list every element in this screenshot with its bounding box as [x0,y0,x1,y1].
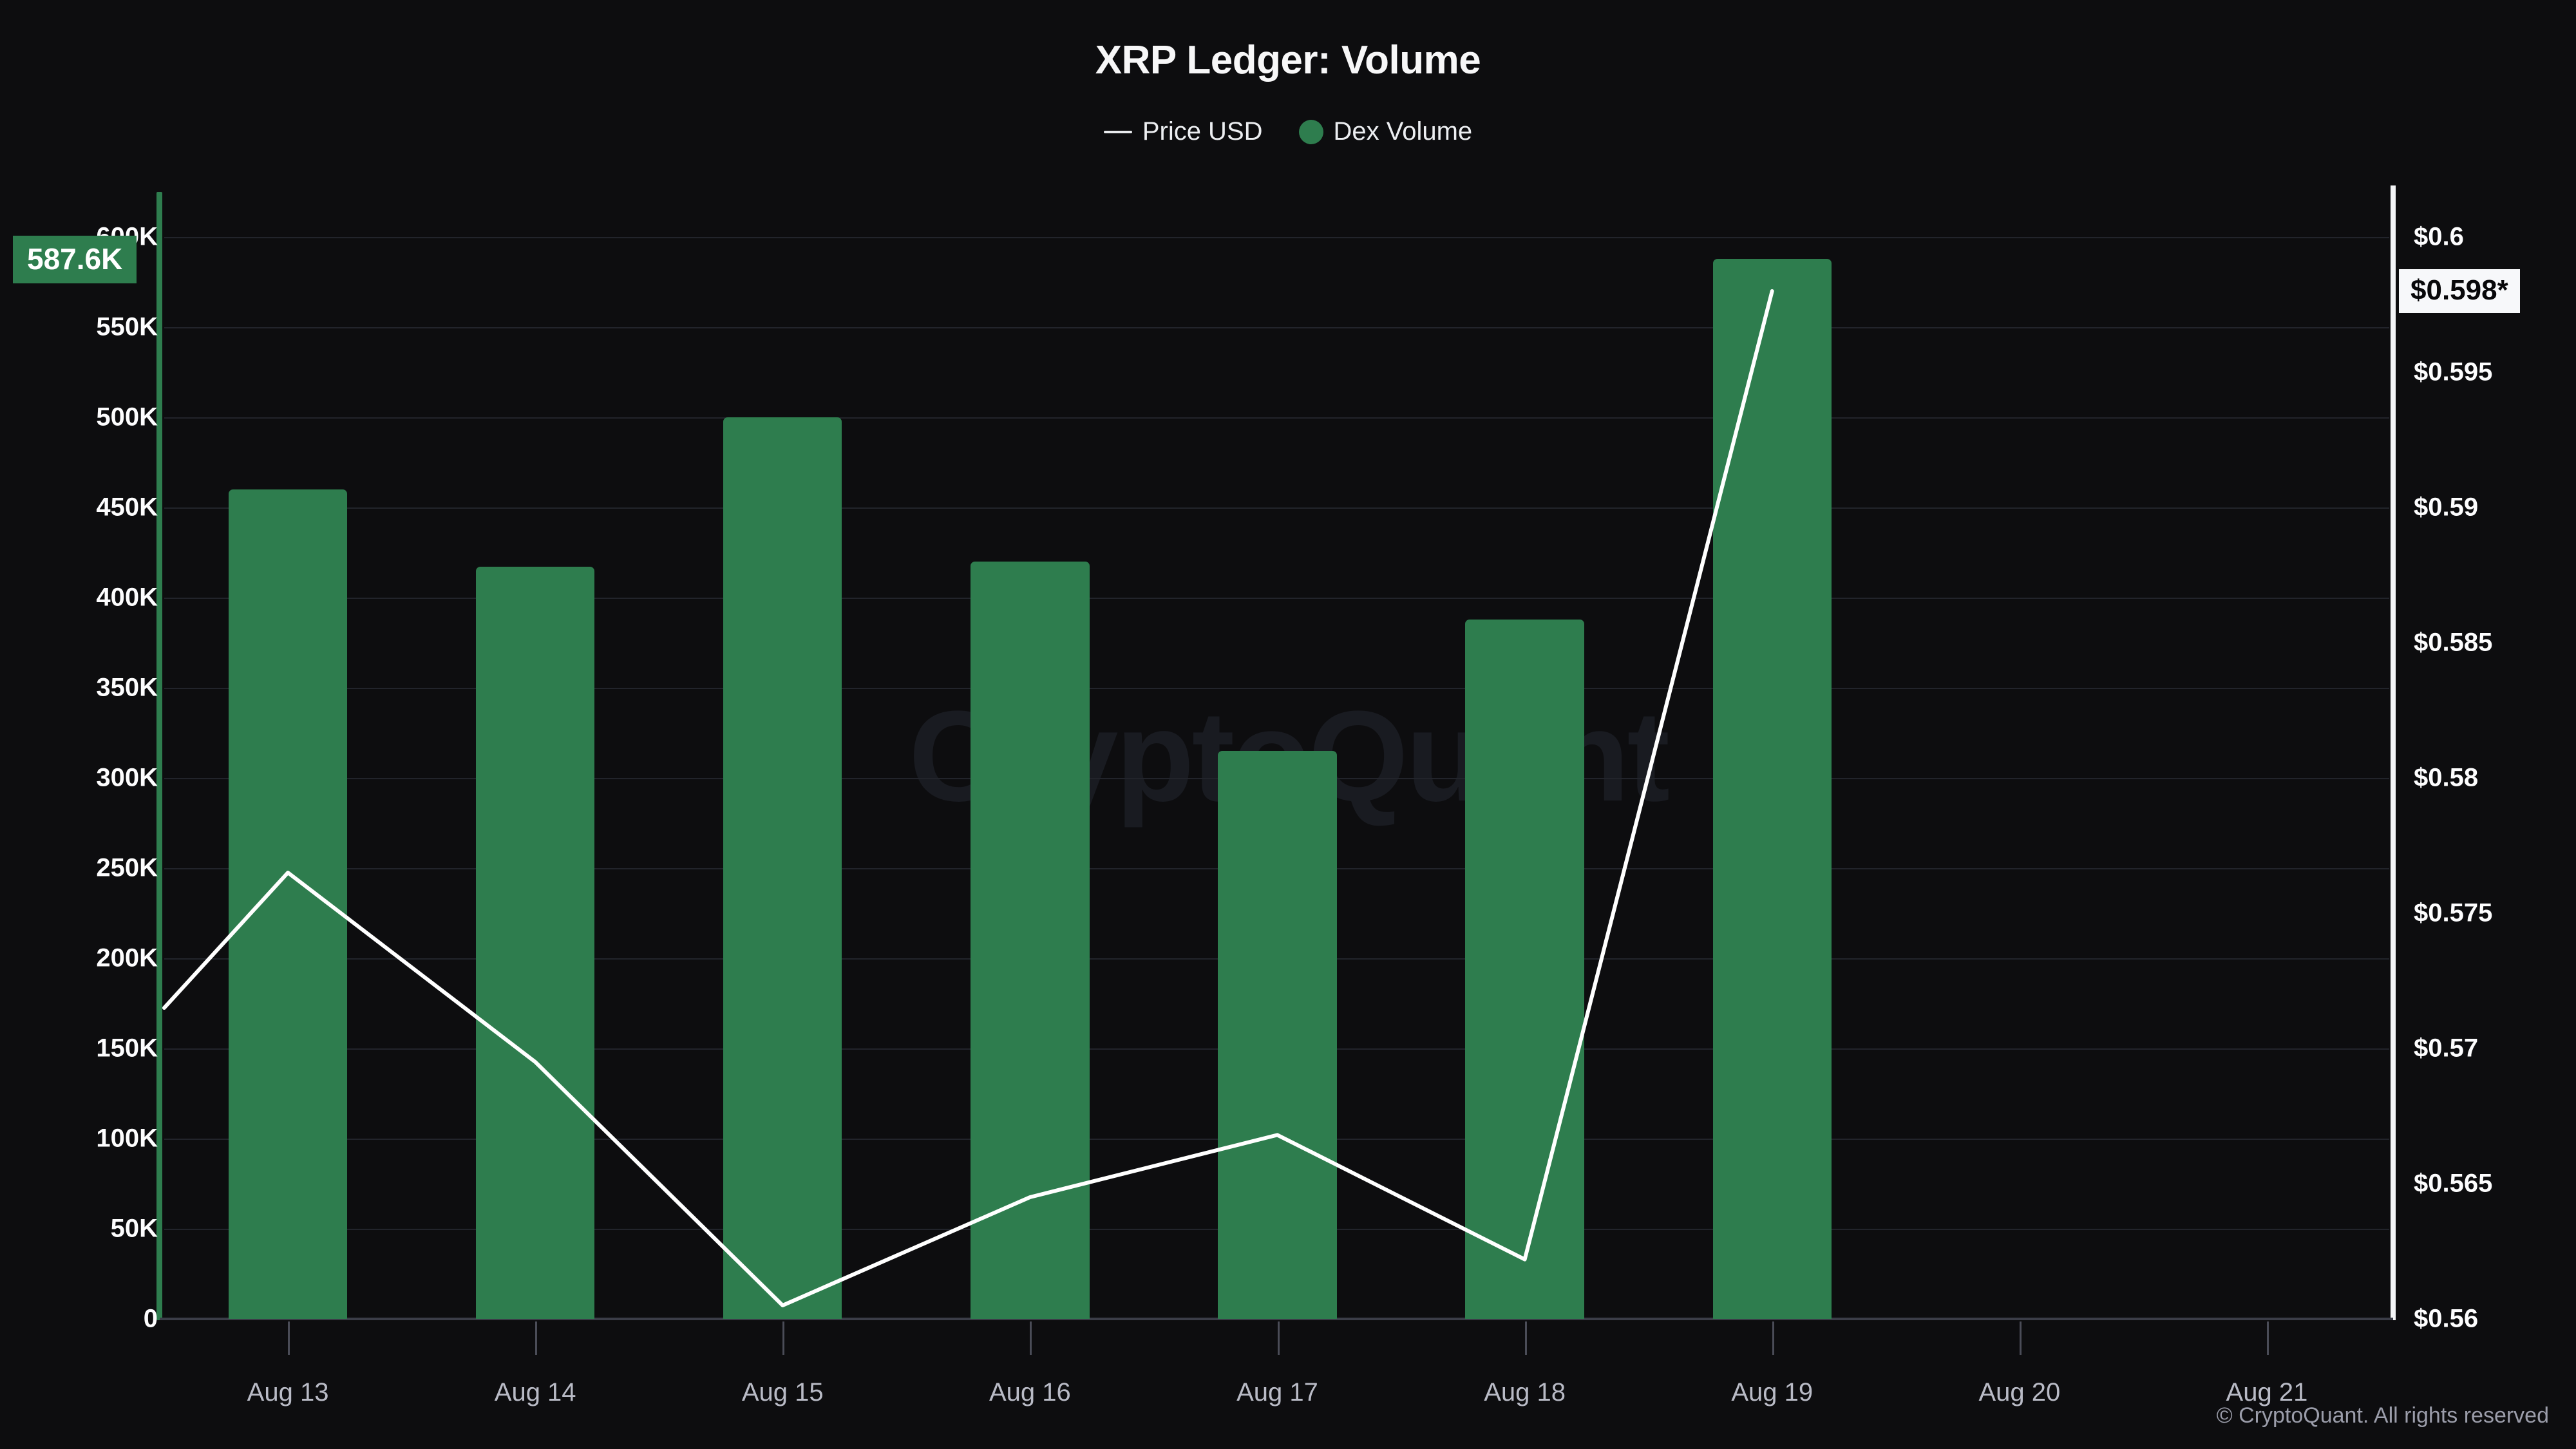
right-axis-tick-label: $0.59 [2414,493,2478,522]
bar-aug-18[interactable] [1465,620,1584,1319]
legend-label-dex-volume: Dex Volume [1334,117,1473,146]
right-axis-tick-label: $0.595 [2414,358,2492,387]
left-axis-tick-label: 150K [96,1034,158,1063]
bar-aug-19[interactable] [1713,259,1832,1319]
x-axis-tick-label[interactable]: Aug 14 [495,1378,576,1407]
gridline [164,237,2389,238]
x-axis-tick-mark [782,1321,784,1355]
x-axis-tick-label[interactable]: Aug 19 [1731,1378,1813,1407]
right-axis-tick-label: $0.56 [2414,1305,2478,1334]
gridline [164,507,2389,509]
right-axis-tick-label: $0.57 [2414,1034,2478,1063]
bar-aug-13[interactable] [229,489,347,1319]
x-axis-tick-mark [2267,1321,2269,1355]
right-axis-line [2391,185,2396,1320]
left-axis-tick-label: 100K [96,1124,158,1153]
bar-aug-16[interactable] [971,562,1089,1319]
chart-title: XRP Ledger: Volume [0,37,2576,83]
left-axis-tick-label: 200K [96,944,158,973]
legend-item-price-usd[interactable]: Price USD [1104,117,1263,146]
legend-label-price-usd: Price USD [1142,117,1263,146]
right-axis-tick-label: $0.58 [2414,764,2478,793]
left-axis-tick-label: 300K [96,764,158,793]
copyright-footer: © CryptoQuant. All rights reserved [2217,1403,2549,1428]
bar-aug-15[interactable] [723,417,842,1319]
x-axis-tick-mark [1772,1321,1774,1355]
x-axis-tick-mark [1030,1321,1032,1355]
x-axis-tick-label[interactable]: Aug 13 [247,1378,329,1407]
chart-container: XRP Ledger: Volume Price USD Dex Volume … [0,0,2576,1449]
left-axis-tick-label: 500K [96,403,158,432]
left-axis-tick-label: 400K [96,583,158,612]
x-axis-tick-mark [2020,1321,2022,1355]
right-axis-tick-label: $0.565 [2414,1170,2492,1198]
left-axis-tick-label: 350K [96,674,158,703]
gridline [164,417,2389,419]
left-axis-tick-label: 0 [144,1305,158,1334]
left-axis-tick-label: 250K [96,854,158,883]
x-axis-tick-label[interactable]: Aug 15 [742,1378,824,1407]
left-axis-tick-label: 550K [96,313,158,342]
x-axis-tick-label[interactable]: Aug 20 [1978,1378,2060,1407]
right-axis-tick-label: $0.6 [2414,223,2464,252]
right-axis-tick-label: $0.575 [2414,899,2492,928]
chart-legend: Price USD Dex Volume [0,117,2576,146]
left-axis-tick-label: 50K [111,1215,158,1244]
x-axis-tick-mark [1525,1321,1527,1355]
left-axis-tick-label: 450K [96,493,158,522]
dot-marker-icon [1299,120,1323,144]
x-axis-tick-mark [535,1321,537,1355]
right-axis-tick-label: $0.585 [2414,629,2492,658]
x-axis-tick-mark [288,1321,290,1355]
x-axis-tick-label[interactable]: Aug 17 [1236,1378,1318,1407]
right-axis-current-value-badge: $0.598* [2399,269,2520,313]
bar-aug-14[interactable] [476,567,594,1319]
gridline [164,327,2389,328]
left-axis-current-value-badge: 587.6K [13,236,137,283]
bar-aug-17[interactable] [1218,751,1336,1319]
x-axis-tick-label[interactable]: Aug 16 [989,1378,1071,1407]
line-marker-icon [1104,131,1132,133]
x-axis-tick-label[interactable]: Aug 18 [1484,1378,1566,1407]
x-axis-tick-mark [1278,1321,1280,1355]
legend-item-dex-volume[interactable]: Dex Volume [1299,117,1473,146]
